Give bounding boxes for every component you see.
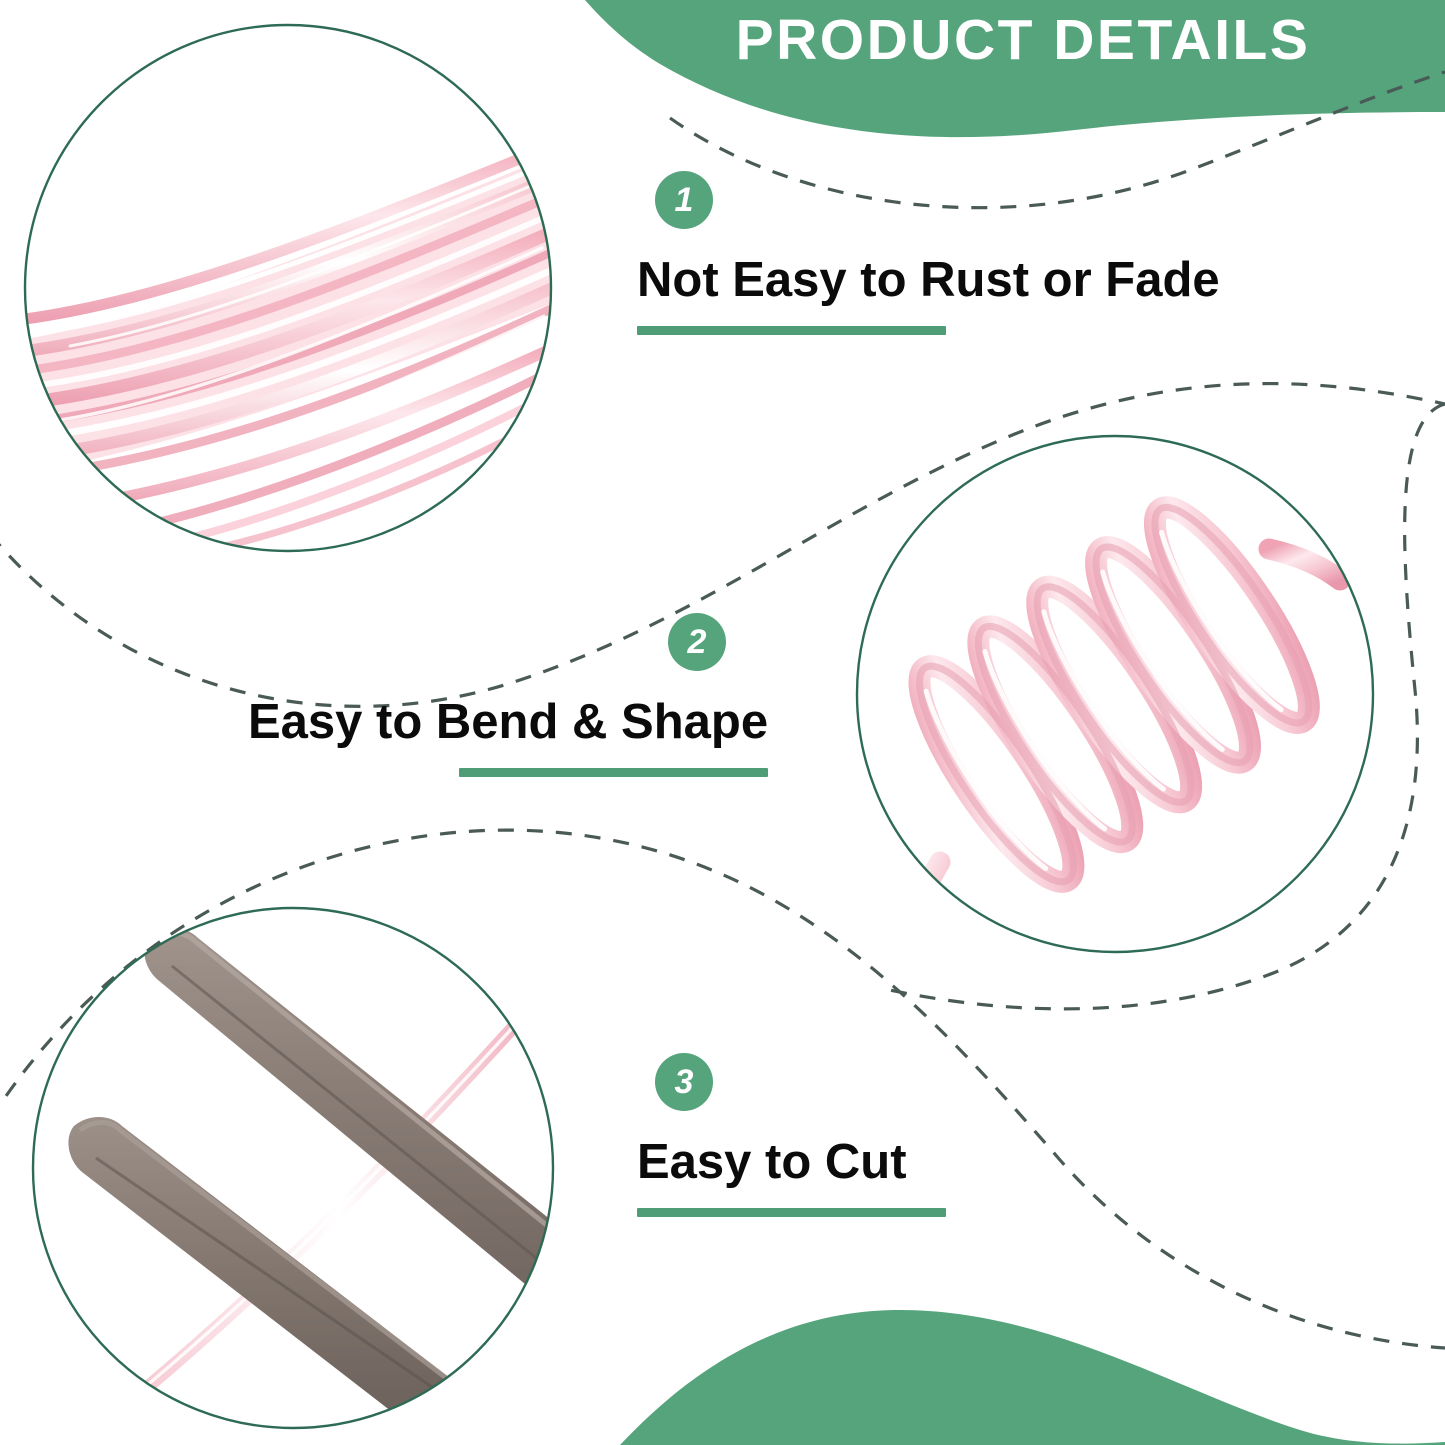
feature-number-badge-3: 3	[655, 1053, 713, 1111]
feature-heading-3: Easy to Cut	[637, 1137, 946, 1189]
feature-item-2: 2 Easy to Bend & Shape	[248, 613, 768, 777]
feature-number-badge-2: 2	[668, 613, 726, 671]
feature-number-badge-1: 1	[655, 171, 713, 229]
page-title: PRODUCT DETAILS	[628, 11, 1418, 71]
feature-heading-1: Not Easy to Rust or Fade	[637, 255, 1220, 307]
feature-item-3: 3 Easy to Cut	[637, 1053, 946, 1217]
feature-underline-1	[637, 326, 946, 335]
feature-item-1: 1 Not Easy to Rust or Fade	[637, 171, 1220, 335]
product-details-infographic: PRODUCT DETAILS 1 Not Easy to Rust or Fa…	[0, 0, 1445, 1445]
feature-underline-3	[637, 1208, 946, 1217]
feature-underline-2	[459, 768, 768, 777]
feature-heading-2: Easy to Bend & Shape	[248, 697, 768, 749]
